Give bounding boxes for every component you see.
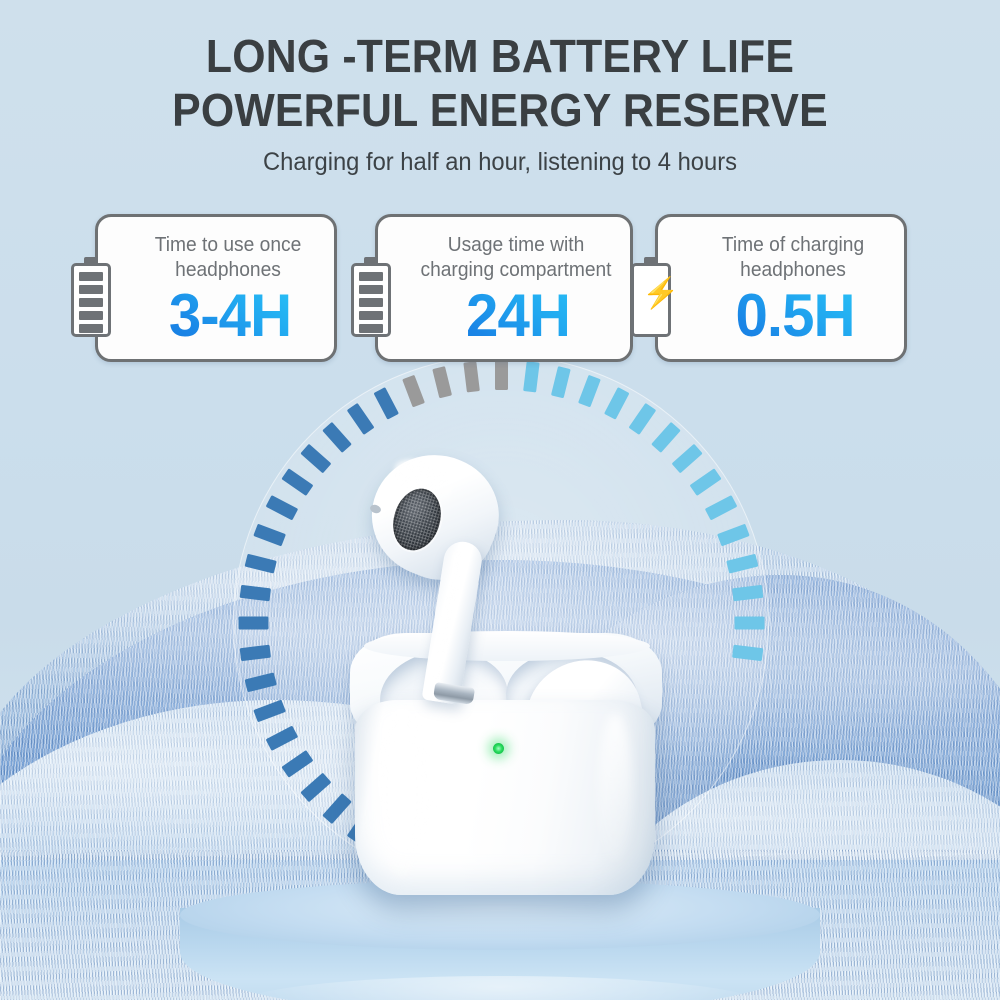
ring-tick (734, 617, 764, 630)
header: LONG -TERM BATTERY LIFE POWERFUL ENERGY … (0, 0, 1000, 177)
ring-tick (495, 360, 508, 390)
case-highlight-left (374, 707, 430, 877)
battery-charging-icon: ⚡ (631, 257, 671, 337)
case-highlight-right (598, 713, 632, 863)
product-earbuds (330, 455, 690, 925)
spec-card-label: Time to use once headphones (136, 233, 320, 283)
battery-level-bar (79, 311, 103, 320)
status-led-indicator (493, 743, 504, 754)
spec-card-value: 3-4H (137, 285, 323, 347)
battery-level-bar (79, 298, 103, 307)
spec-card-value: 24H (417, 285, 619, 347)
battery-full-icon (351, 257, 391, 337)
spec-card-label: Time of charging headphones (696, 233, 890, 283)
battery-level-bar (359, 324, 383, 333)
battery-level-bar (79, 285, 103, 294)
spec-cards: Time to use once headphones 3-4H Usage t… (0, 214, 1000, 364)
battery-level-bar (359, 272, 383, 281)
spec-card-battery-life[interactable]: Time to use once headphones 3-4H (95, 214, 337, 362)
battery-level-bar (359, 298, 383, 307)
poster-canvas: LONG -TERM BATTERY LIFE POWERFUL ENERGY … (0, 0, 1000, 1000)
battery-level-bar (359, 311, 383, 320)
battery-level-bar (79, 272, 103, 281)
battery-level-bar (359, 285, 383, 294)
spec-card-value: 0.5H (697, 285, 893, 347)
earbud-left (358, 455, 538, 720)
spec-card-charge-time[interactable]: ⚡ Time of charging headphones 0.5H (655, 214, 907, 362)
page-title-line1: LONG -TERM BATTERY LIFE (35, 32, 965, 80)
spec-card-case-usage[interactable]: Usage time with charging compartment 24H (375, 214, 633, 362)
lightning-bolt-icon: ⚡ (642, 277, 660, 311)
battery-level-bar (79, 324, 103, 333)
spec-card-label: Usage time with charging compartment (416, 233, 616, 283)
page-title-line2: POWERFUL ENERGY RESERVE (35, 86, 965, 134)
ring-tick (238, 617, 268, 630)
battery-full-icon (71, 257, 111, 337)
page-subtitle: Charging for half an hour, listening to … (25, 148, 975, 177)
